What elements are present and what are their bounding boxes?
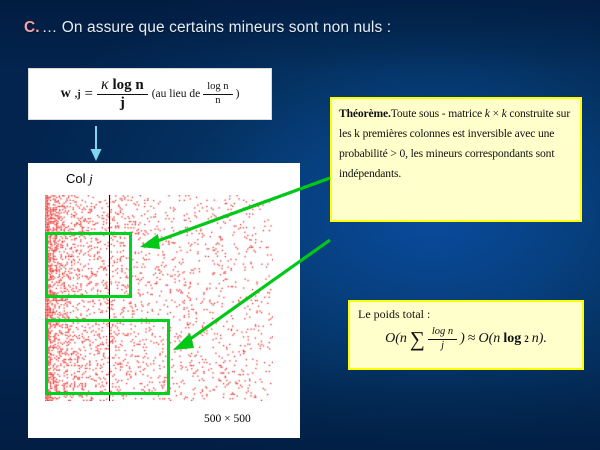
theorem-callout-box: Théorème.Toute sous - matrice k × k cons…	[330, 97, 582, 222]
theorem-times: ×	[490, 107, 502, 120]
down-arrow-icon	[88, 126, 104, 162]
theorem-label: Théorème.	[339, 107, 391, 120]
approx-symbol: ≈	[468, 331, 476, 347]
column-label: Col j	[66, 171, 93, 187]
weight-fraction: log n j	[428, 327, 457, 351]
weight-definition-box: w,j = κ log n j (au lieu de log n n )	[28, 68, 272, 120]
slide-canvas: C.… On assure que certains mineurs sont …	[0, 0, 600, 450]
theorem-k-second: k	[502, 107, 507, 120]
total-weight-callout-box: Le poids total : O(n ∑ log n j ) ≈ O(nlo…	[348, 300, 584, 370]
weight-formula-close-paren: )	[460, 331, 465, 347]
weight-fraction-numerator: log n	[428, 327, 457, 339]
formula-equals: =	[85, 86, 93, 103]
summation-symbol: ∑	[410, 331, 425, 348]
upper-minor-highlight-box	[45, 232, 132, 298]
formula-main-fraction: κ log n j	[97, 77, 148, 112]
formula-w-symbol: w	[61, 86, 71, 102]
total-weight-caption: Le poids total :	[358, 307, 574, 322]
weight-formula-tail: n).	[532, 331, 547, 347]
kappa-symbol: κ	[101, 76, 109, 93]
note-denominator: n	[211, 95, 224, 107]
note-open-text: (au lieu de	[152, 88, 201, 100]
theorem-line5: indépendants.	[339, 167, 401, 180]
total-weight-formula: O(n ∑ log n j ) ≈ O(nlog2n).	[358, 327, 574, 351]
matrix-size-label: 500 × 500	[204, 413, 251, 425]
title-lead-letter: C.	[24, 19, 40, 36]
theorem-line1-prefix: Toute sous - matrice	[391, 107, 485, 120]
note-numerator: log n	[203, 82, 232, 94]
column-label-text: Col	[66, 171, 86, 186]
theorem-text: Théorème.Toute sous - matrice k × k cons…	[339, 104, 574, 184]
column-label-index: j	[89, 171, 93, 186]
note-fraction: log n n	[203, 82, 232, 106]
lower-minor-highlight-box	[45, 319, 170, 395]
weight-fraction-denominator: j	[437, 340, 448, 352]
formula-numerator: κ log n	[97, 77, 148, 94]
title-text: … On assure que certains mineurs sont no…	[42, 19, 391, 36]
note-close-text: )	[236, 88, 240, 100]
formula-alternative-note: (au lieu de log n n )	[152, 82, 240, 106]
page-title: C.… On assure que certains mineurs sont …	[24, 19, 391, 37]
scatter-plot-area	[45, 195, 273, 401]
weight-formula-exponent: 2	[524, 334, 529, 344]
formula-w-subscript: ,j	[75, 89, 81, 100]
weight-formula-log: log	[503, 331, 521, 347]
formula-numerator-log: log n	[112, 77, 143, 93]
formula-denominator: j	[116, 95, 129, 111]
theorem-line4: les mineurs correspondants sont	[411, 147, 555, 160]
matrix-illustration-panel: Col j 500 × 500	[28, 163, 300, 438]
weight-formula-open: O(n	[385, 331, 407, 347]
weight-definition-formula: w,j = κ log n j (au lieu de log n n )	[29, 69, 271, 119]
weight-formula-right-open: O(n	[479, 331, 501, 347]
